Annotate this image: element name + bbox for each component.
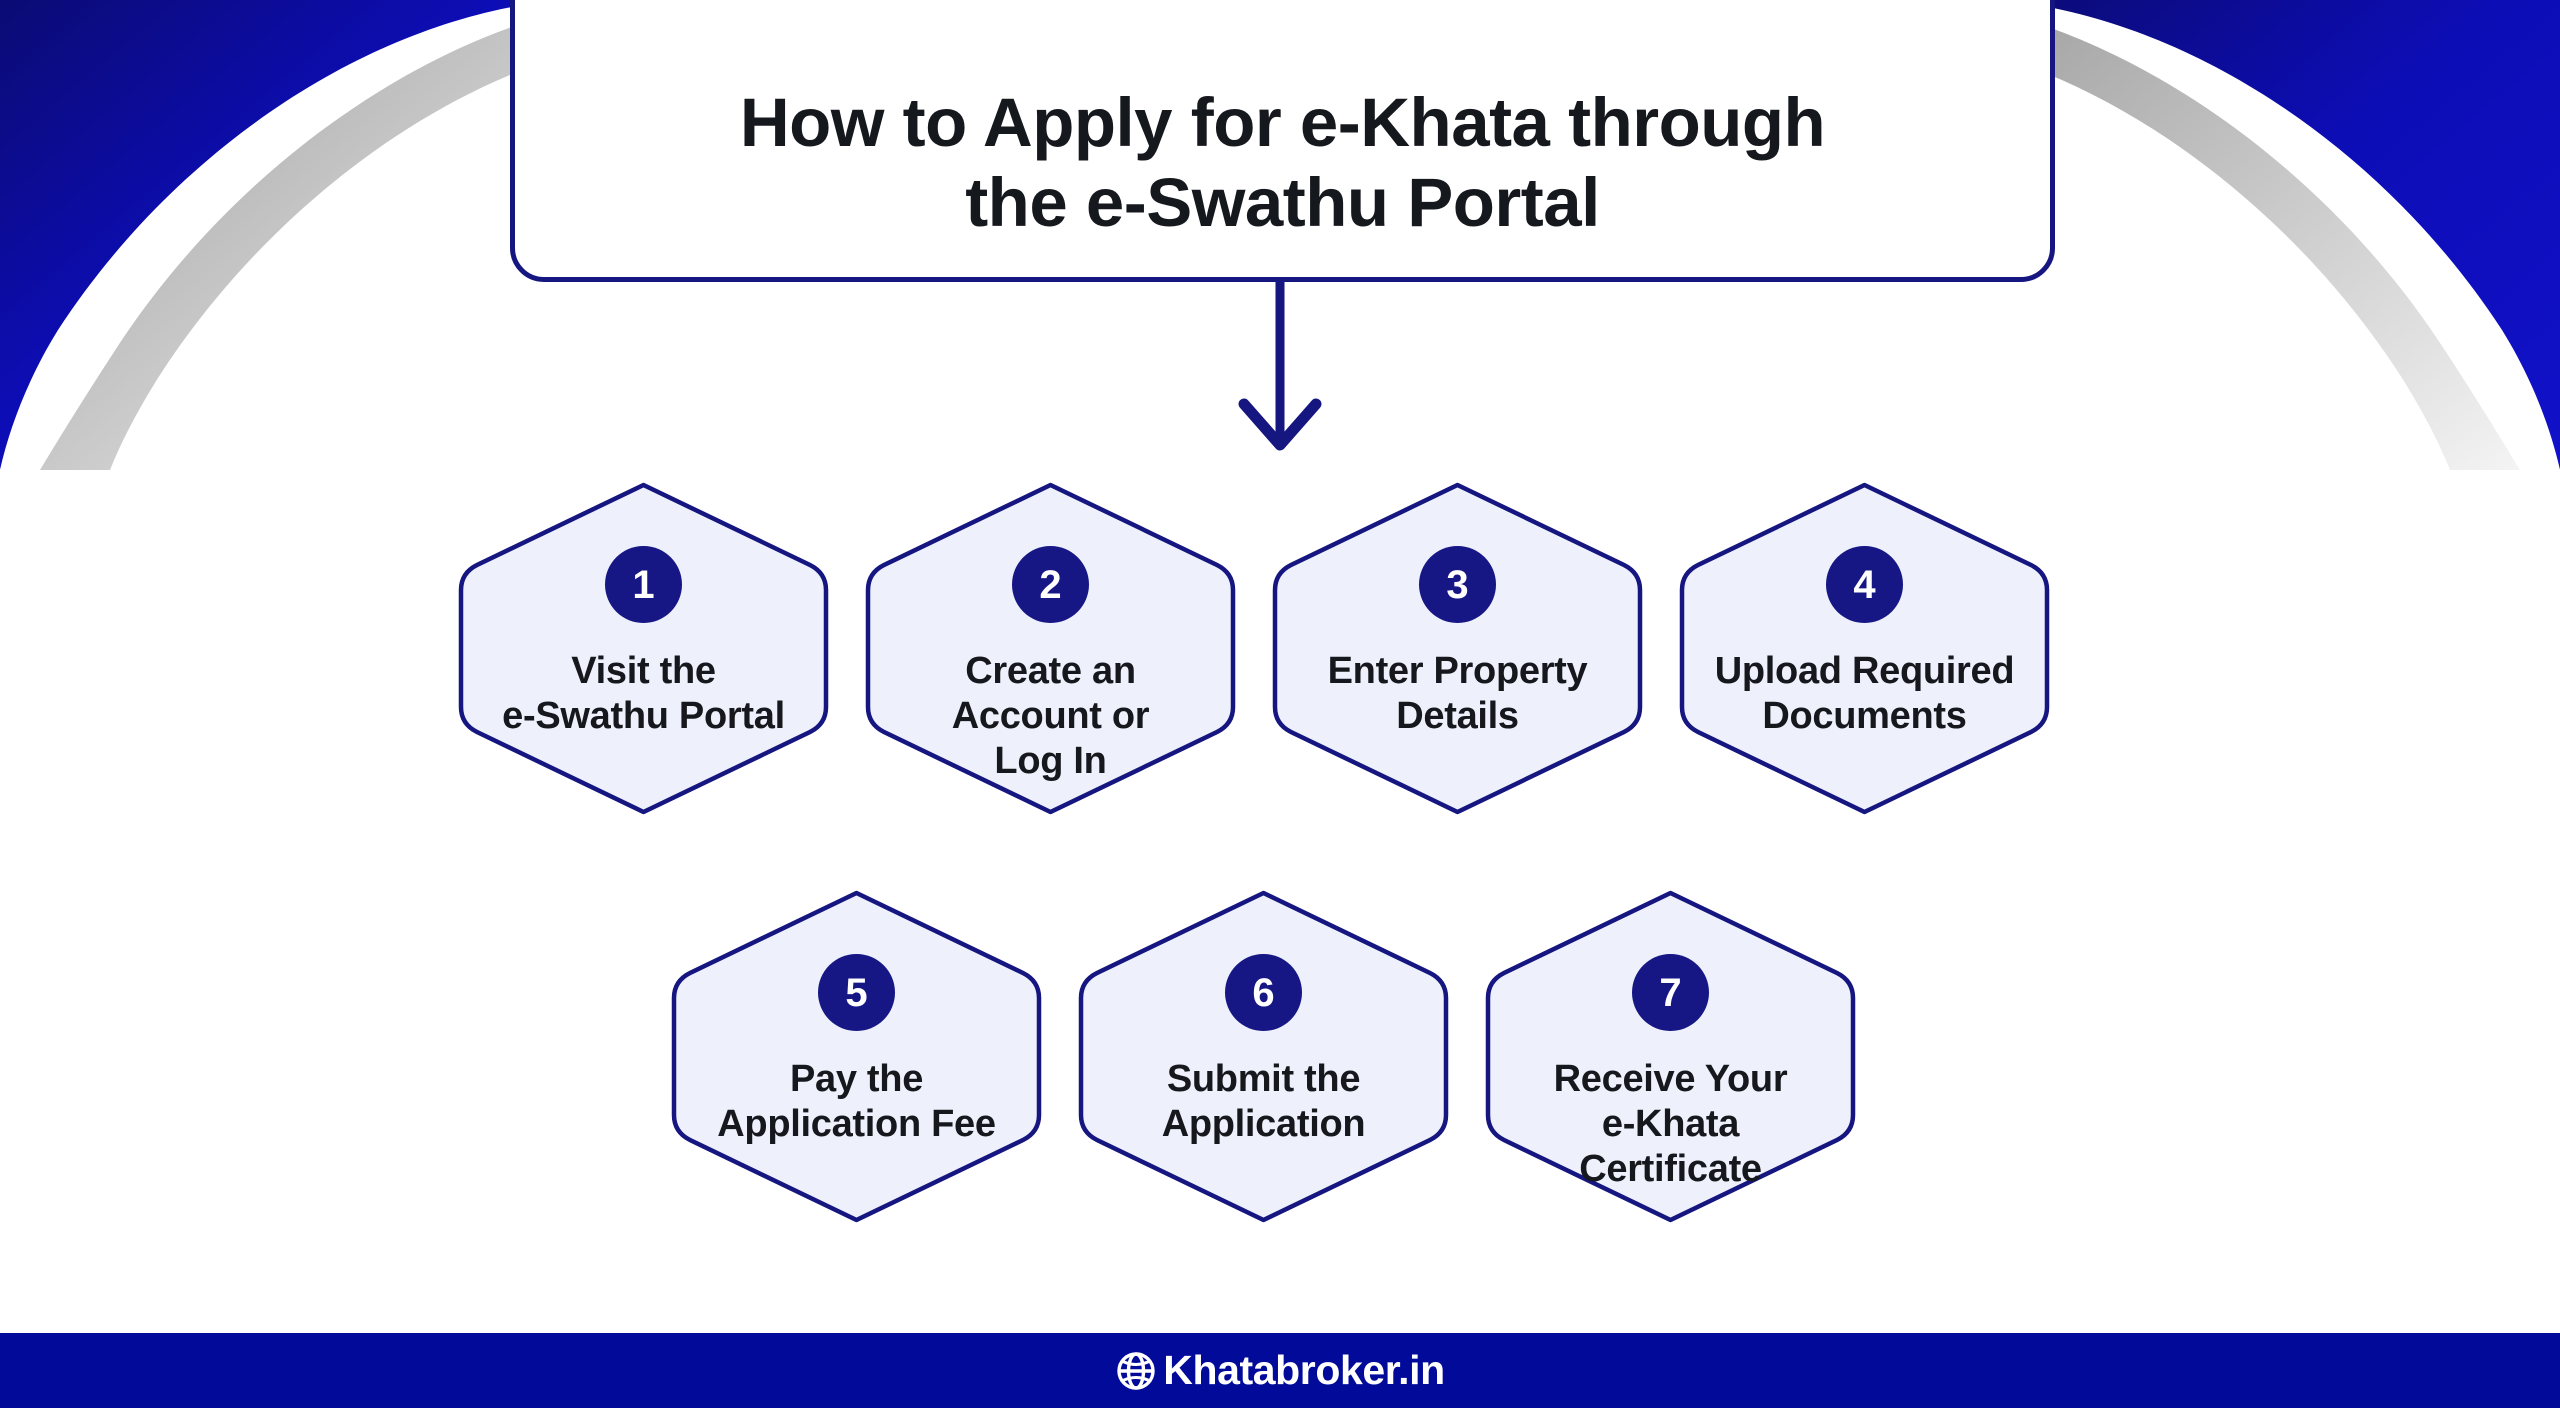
step-number-badge: 4 (1826, 546, 1903, 623)
page-title-line-1: How to Apply for e-Khata through (740, 83, 1825, 163)
step-hexagon-7[interactable]: 7 Receive Your e-Khata Certificate (1479, 884, 1862, 1229)
page-title: How to Apply for e-Khata through the e-S… (700, 83, 1865, 257)
step-label: Enter Property Details (1278, 649, 1638, 739)
step-label: Visit the e-Swathu Portal (464, 649, 824, 739)
brand-name: Khatabroker.in (1163, 1350, 1444, 1391)
title-card: How to Apply for e-Khata through the e-S… (510, 0, 2055, 282)
infographic-canvas: How to Apply for e-Khata through the e-S… (0, 0, 2560, 1408)
down-arrow-icon (1210, 282, 1350, 462)
step-number-badge: 2 (1012, 546, 1089, 623)
step-hexagon-2[interactable]: 2 Create an Account or Log In (859, 476, 1242, 821)
step-hexagon-3[interactable]: 3 Enter Property Details (1266, 476, 1649, 821)
step-hexagon-6[interactable]: 6 Submit the Application (1072, 884, 1455, 1229)
step-number-badge: 6 (1225, 954, 1302, 1031)
step-hexagon-4[interactable]: 4 Upload Required Documents (1673, 476, 2056, 821)
page-title-line-2: the e-Swathu Portal (740, 163, 1825, 243)
steps-row-top: 1 Visit the e-Swathu Portal 2 Create an … (452, 476, 2056, 821)
step-number-badge: 1 (605, 546, 682, 623)
step-label: Submit the Application (1084, 1057, 1444, 1147)
step-hexagon-1[interactable]: 1 Visit the e-Swathu Portal (452, 476, 835, 821)
step-number-badge: 3 (1419, 546, 1496, 623)
step-number-badge: 5 (818, 954, 895, 1031)
steps-row-bottom: 5 Pay the Application Fee 6 Submit the A… (665, 884, 1862, 1229)
step-hexagon-5[interactable]: 5 Pay the Application Fee (665, 884, 1048, 1229)
step-label: Upload Required Documents (1685, 649, 2045, 739)
globe-icon (1115, 1350, 1157, 1392)
footer-bar: Khatabroker.in (0, 1333, 2560, 1408)
step-label: Create an Account or Log In (871, 649, 1231, 783)
step-number-badge: 7 (1632, 954, 1709, 1031)
step-label: Pay the Application Fee (677, 1057, 1037, 1147)
step-label: Receive Your e-Khata Certificate (1491, 1057, 1851, 1191)
